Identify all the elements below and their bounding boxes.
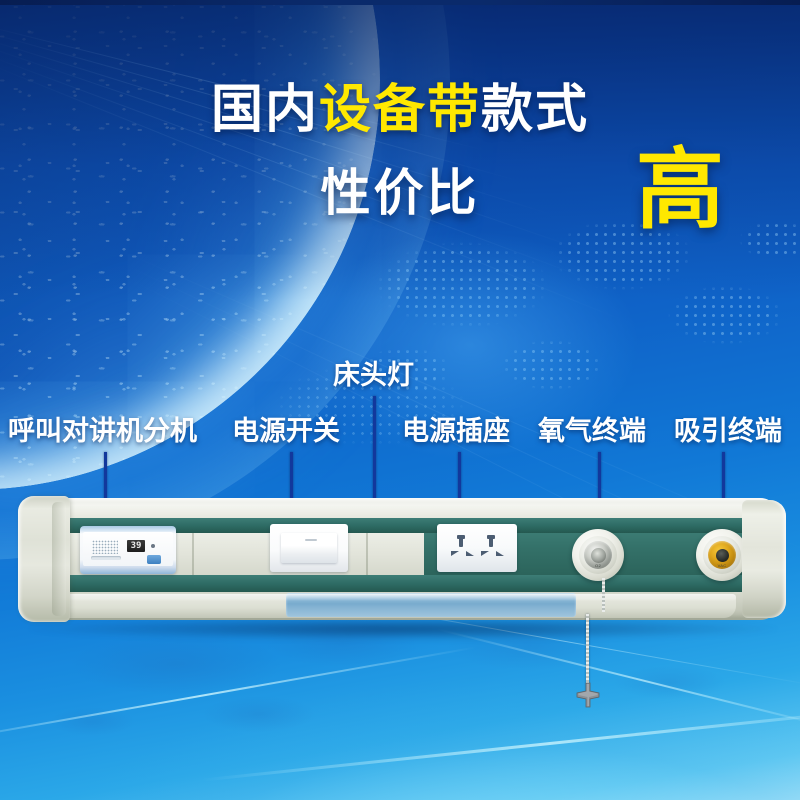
power-socket-plate[interactable] (437, 524, 517, 572)
promo-banner: 国内设备带款式 性价比 高 呼叫对讲机分机 电源开关 床头灯 电源插座 氧气终端… (0, 0, 800, 800)
headline: 国内设备带款式 (0, 84, 800, 136)
intercom-faceplate: 39 (83, 532, 173, 566)
panel-seam-2 (366, 533, 368, 575)
panel-drop-shadow (28, 618, 778, 640)
diffuser-highlight (36, 594, 736, 601)
pull-cord-cross-handle[interactable] (575, 682, 601, 708)
suction-terminal-outlet[interactable]: VAC (696, 529, 748, 581)
socket-pin-left (459, 536, 463, 547)
power-switch-plate[interactable] (270, 524, 348, 572)
halftone-world-map-secondary (250, 330, 550, 480)
oxygen-outlet-port (591, 548, 606, 563)
panel-end-cap-right (742, 500, 786, 618)
socket-slot-3 (481, 551, 489, 556)
oxygen-outlet-marking: O2 (586, 563, 610, 569)
panel-end-cap-left (18, 496, 70, 622)
intercom-card-slot (91, 556, 121, 560)
speaker-grille-icon (92, 540, 118, 554)
intercom-call-button[interactable] (147, 555, 161, 564)
oxygen-outlet-cord (602, 578, 605, 612)
rocker-switch[interactable] (281, 533, 337, 563)
suction-outlet-marking: VAC (710, 563, 734, 569)
callout-label-bedlight: 床头灯 (333, 362, 414, 389)
headline-part-3: 款式 (481, 81, 589, 139)
suction-outlet-port (716, 549, 729, 562)
switch-marking (305, 539, 317, 541)
subheadline-text: 性价比 (321, 165, 480, 221)
socket-slot-1 (451, 551, 459, 556)
callout-label-switch: 电源开关 (232, 418, 340, 445)
socket-slot-4 (496, 551, 504, 556)
headline-part-2-highlight: 设备带 (319, 81, 481, 139)
nurse-call-intercom-unit[interactable]: 39 (80, 526, 176, 574)
headline-part-1: 国内 (211, 81, 319, 139)
call-pull-cord[interactable] (586, 614, 589, 692)
panel-end-cap-left-inner (52, 502, 66, 616)
intercom-display: 39 (127, 540, 145, 552)
callout-label-suction: 吸引终端 (674, 418, 782, 445)
oxygen-terminal-outlet[interactable]: O2 (572, 529, 624, 581)
emphasis-character: 高 (636, 146, 724, 234)
socket-pin-right (489, 536, 493, 547)
panel-band-bottom (38, 575, 764, 592)
socket-slot-2 (466, 551, 474, 556)
intercom-indicator-led (151, 544, 155, 548)
callout-label-oxygen: 氧气终端 (538, 418, 646, 445)
panel-seam-1 (192, 533, 194, 575)
callout-label-socket: 电源插座 (402, 418, 510, 445)
top-edge-line (0, 0, 800, 5)
callout-label-intercom: 呼叫对讲机分机 (8, 418, 197, 445)
bed-head-unit-panel: 39 O2 (18, 496, 786, 636)
